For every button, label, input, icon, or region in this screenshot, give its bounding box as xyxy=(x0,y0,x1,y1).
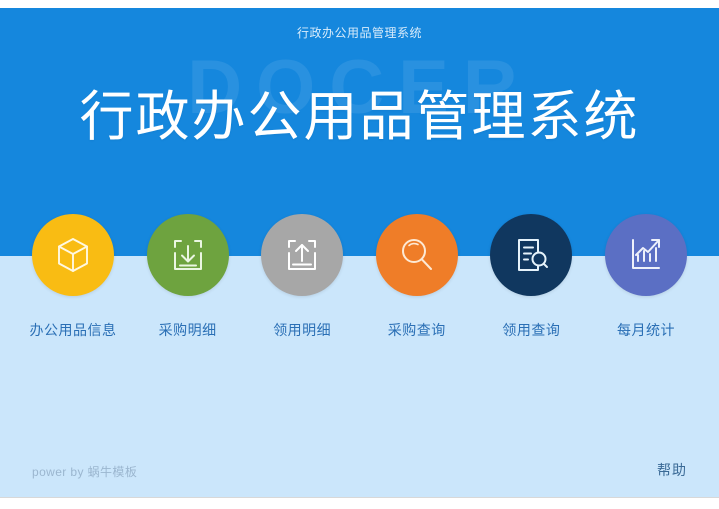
help-button[interactable]: 帮助 xyxy=(657,460,687,480)
menu-tile-purchase-detail[interactable]: 采购明细 xyxy=(145,214,231,354)
top-margin-strip xyxy=(0,0,719,8)
application-window: 行政办公用品管理系统 DOCER 行政办公用品管理系统 办公用品信息 xyxy=(0,0,719,509)
menu-tile-requisition-detail[interactable]: 领用明细 xyxy=(259,214,345,354)
menu-tile-row: 办公用品信息 采购明细 xyxy=(0,214,719,354)
magnifier-search-icon xyxy=(395,233,439,277)
tile-circle[interactable] xyxy=(605,214,687,296)
menu-tile-requisition-query[interactable]: 领用查询 xyxy=(488,214,574,354)
page-title: 行政办公用品管理系统 xyxy=(0,88,719,147)
tile-label: 办公用品信息 xyxy=(30,320,117,340)
box-3d-icon xyxy=(51,233,95,277)
tile-circle[interactable] xyxy=(490,214,572,296)
menu-tile-monthly-statistics[interactable]: 每月统计 xyxy=(603,214,689,354)
bar-chart-trend-icon xyxy=(624,233,668,277)
tile-circle[interactable] xyxy=(376,214,458,296)
tile-label: 每月统计 xyxy=(617,320,675,340)
powered-by-text: power by 蜗牛模板 xyxy=(32,463,137,480)
menu-tile-office-supply-info[interactable]: 办公用品信息 xyxy=(30,214,116,354)
tile-circle[interactable] xyxy=(147,214,229,296)
app-title: 行政办公用品管理系统 xyxy=(0,24,719,41)
tile-circle[interactable] xyxy=(32,214,114,296)
download-document-icon xyxy=(166,233,210,277)
tile-label: 领用查询 xyxy=(502,320,560,340)
tile-circle[interactable] xyxy=(261,214,343,296)
menu-tile-purchase-query[interactable]: 采购查询 xyxy=(374,214,460,354)
tile-label: 领用明细 xyxy=(273,320,331,340)
tile-label: 采购明细 xyxy=(159,320,217,340)
document-search-icon xyxy=(509,233,553,277)
bottom-margin-strip xyxy=(0,497,719,509)
footer-bar: power by 蜗牛模板 帮助 xyxy=(0,453,719,497)
upload-document-icon xyxy=(280,233,324,277)
tile-label: 采购查询 xyxy=(388,320,446,340)
